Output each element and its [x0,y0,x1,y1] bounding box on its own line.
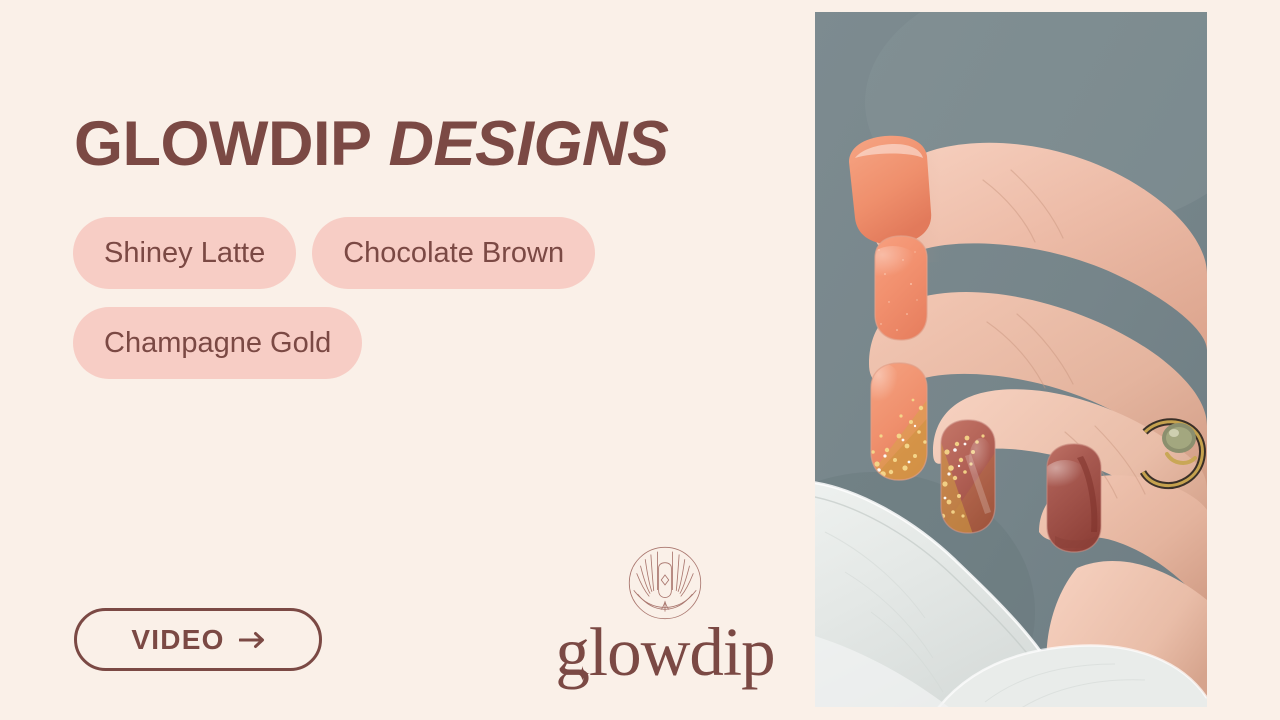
arrow-right-icon [239,631,265,649]
shade-row-2: Champagne Gold [73,307,773,379]
video-button[interactable]: VIDEO [74,608,322,671]
page-title-main: GLOWDIP [74,109,371,179]
shade-pill-chocolate-brown[interactable]: Chocolate Brown [312,217,595,289]
shade-pill-champagne-gold[interactable]: Champagne Gold [73,307,362,379]
page-title: GLOWDIP DESIGNS [74,113,669,176]
shade-list: Shiney Latte Chocolate Brown Champagne G… [73,217,773,397]
sparkle-icon [575,624,590,639]
shade-row-1: Shiney Latte Chocolate Brown [73,217,773,289]
slide-canvas: GLOWDIP DESIGNS Shiney Latte Chocolate B… [0,0,1280,720]
left-content-panel: GLOWDIP DESIGNS Shiney Latte Chocolate B… [0,0,815,720]
nail-photo [815,12,1207,707]
shade-pill-shiney-latte[interactable]: Shiney Latte [73,217,296,289]
logo-wordmark: glowdip [555,618,774,687]
page-title-accent: DESIGNS [389,109,669,179]
brand-logo: glowdip [560,536,770,676]
video-button-label: VIDEO [131,626,224,654]
page-title-space [371,109,388,179]
